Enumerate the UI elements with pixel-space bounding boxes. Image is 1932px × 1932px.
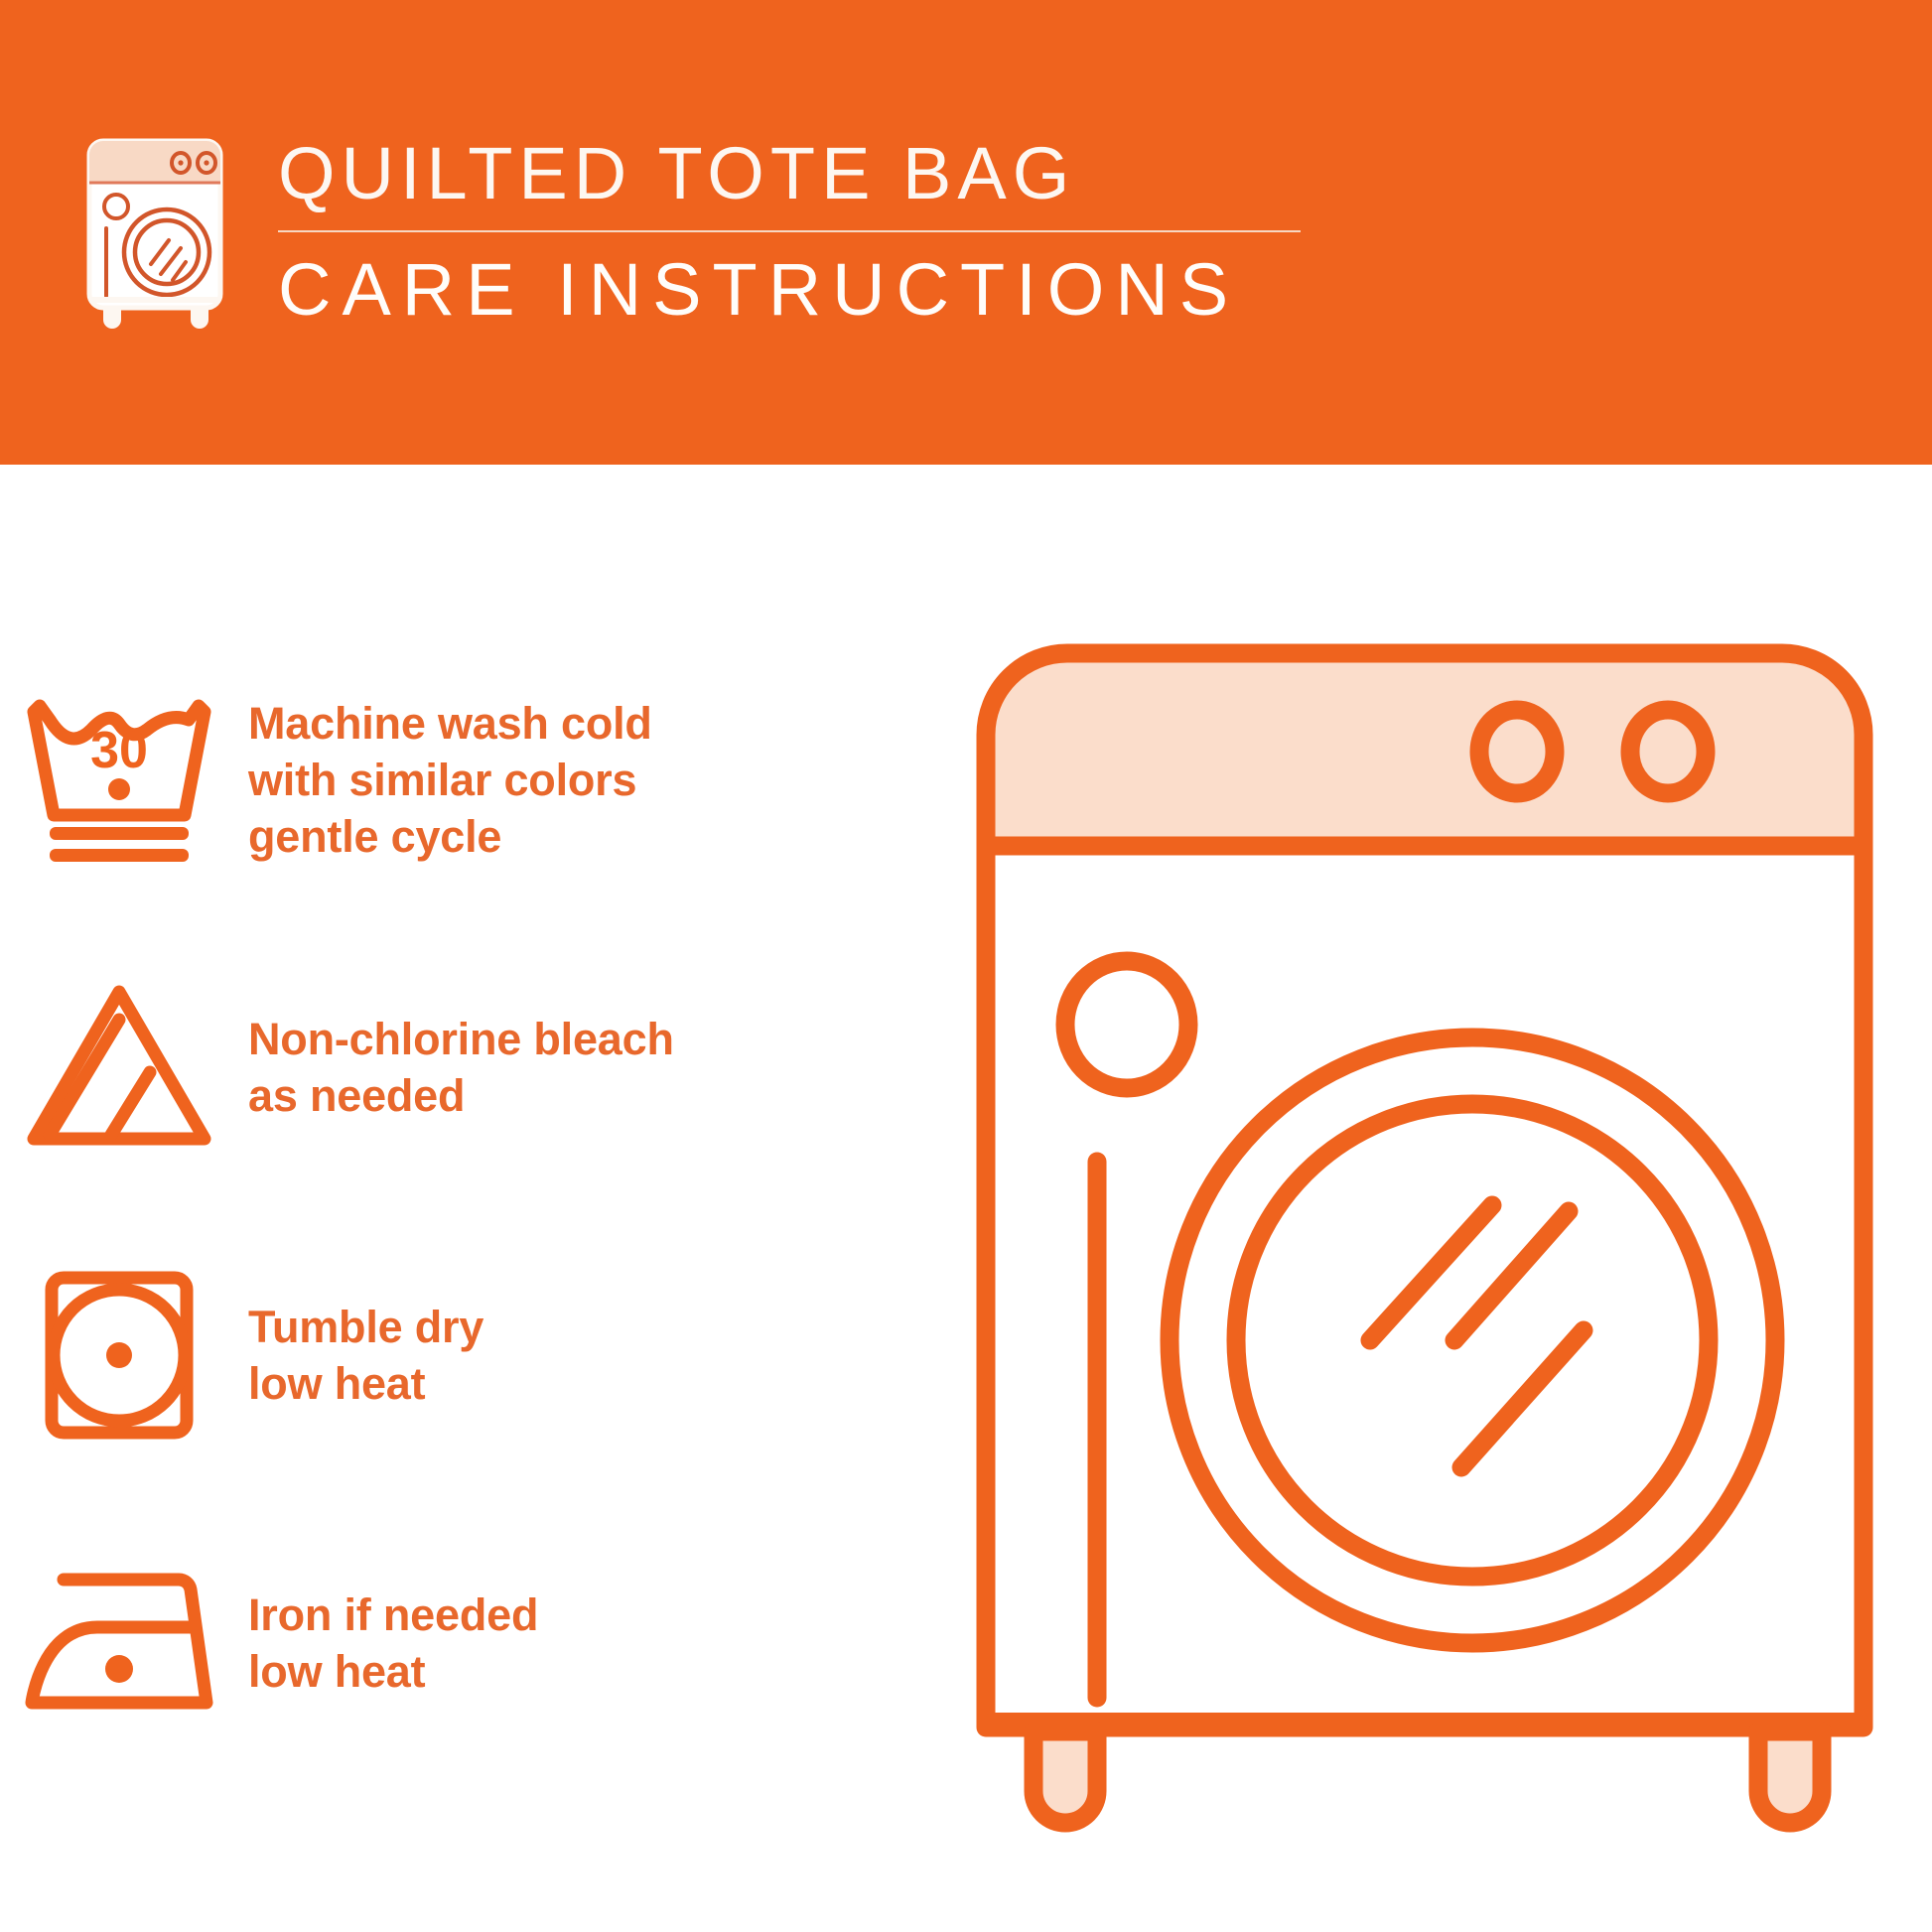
door-outer-ring [1170, 1037, 1775, 1643]
care-label-iron: Iron if needed low heat [238, 1587, 953, 1700]
washing-machine-icon [83, 135, 242, 329]
care-row-tumble-dry: Tumble dry low heat [0, 1211, 953, 1499]
care-row-machine-wash: 30 Machine wash cold with similar colors… [0, 635, 953, 923]
iron-low-heat-icon [0, 1554, 238, 1732]
front-load-washing-machine-illustration [968, 635, 1881, 1857]
header-content: QUILTED TOTE BAG CARE INSTRUCTIONS [83, 129, 1301, 330]
non-chlorine-bleach-triangle-icon [0, 978, 238, 1157]
care-row-iron: Iron if needed low heat [0, 1499, 953, 1787]
care-label-bleach: Non-chlorine bleach as needed [238, 1011, 953, 1124]
leg-left [1034, 1731, 1097, 1823]
detergent-dispenser-circle [1065, 961, 1188, 1088]
care-label-line-2: with similar colors [248, 752, 953, 808]
page-title: QUILTED TOTE BAG [278, 133, 1301, 214]
control-panel [986, 653, 1863, 846]
care-row-bleach: Non-chlorine bleach as needed [0, 923, 953, 1211]
care-label-line-1: Machine wash cold [248, 695, 953, 752]
care-label-machine-wash: Machine wash cold with similar colors ge… [238, 695, 953, 865]
header-titles: QUILTED TOTE BAG CARE INSTRUCTIONS [278, 129, 1301, 330]
care-label-line-1: Non-chlorine bleach [248, 1011, 953, 1067]
wash-basin-30-gentle-icon: 30 [0, 690, 238, 869]
care-label-line-2: as needed [248, 1067, 953, 1124]
wash-temperature-label: 30 [90, 722, 148, 779]
door-shine-lines [1370, 1205, 1584, 1467]
page-subtitle: CARE INSTRUCTIONS [278, 250, 1301, 330]
care-label-line-1: Tumble dry [248, 1299, 953, 1355]
page-header: QUILTED TOTE BAG CARE INSTRUCTIONS [0, 0, 1932, 465]
tumble-dry-low-heat-icon [0, 1266, 238, 1445]
title-divider [278, 230, 1301, 232]
care-instructions-page: QUILTED TOTE BAG CARE INSTRUCTIONS 30 Ma… [0, 0, 1932, 1932]
care-label-line-3: gentle cycle [248, 808, 953, 865]
care-label-tumble-dry: Tumble dry low heat [238, 1299, 953, 1412]
care-label-line-2: low heat [248, 1643, 953, 1700]
leg-right [1758, 1731, 1822, 1823]
care-label-line-2: low heat [248, 1355, 953, 1412]
care-label-line-1: Iron if needed [248, 1587, 953, 1643]
care-instructions-list: 30 Machine wash cold with similar colors… [0, 635, 953, 1787]
door-inner-ring [1236, 1104, 1709, 1577]
